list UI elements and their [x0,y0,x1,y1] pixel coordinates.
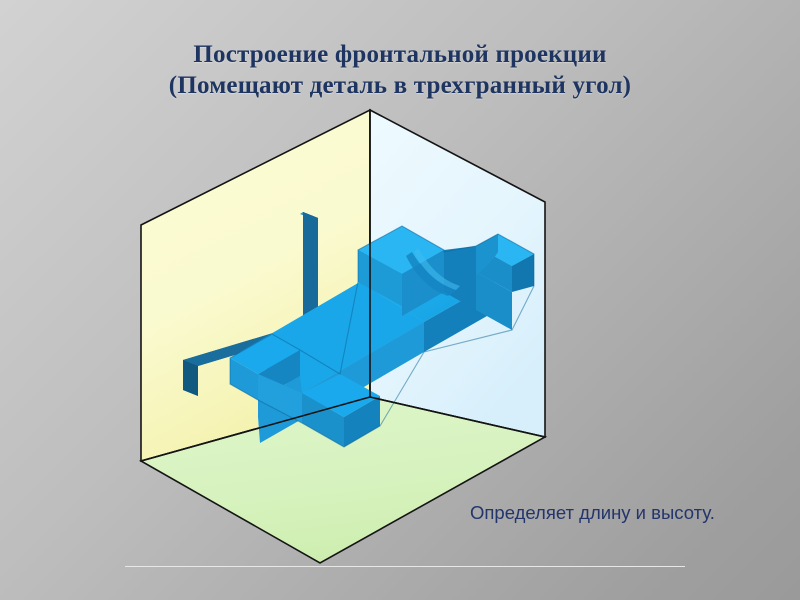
slide-canvas: Построение фронтальной проекции (Помещаю… [0,0,800,600]
caption-text: Определяет длину и высоту. [470,502,715,524]
bottom-divider [125,566,685,567]
